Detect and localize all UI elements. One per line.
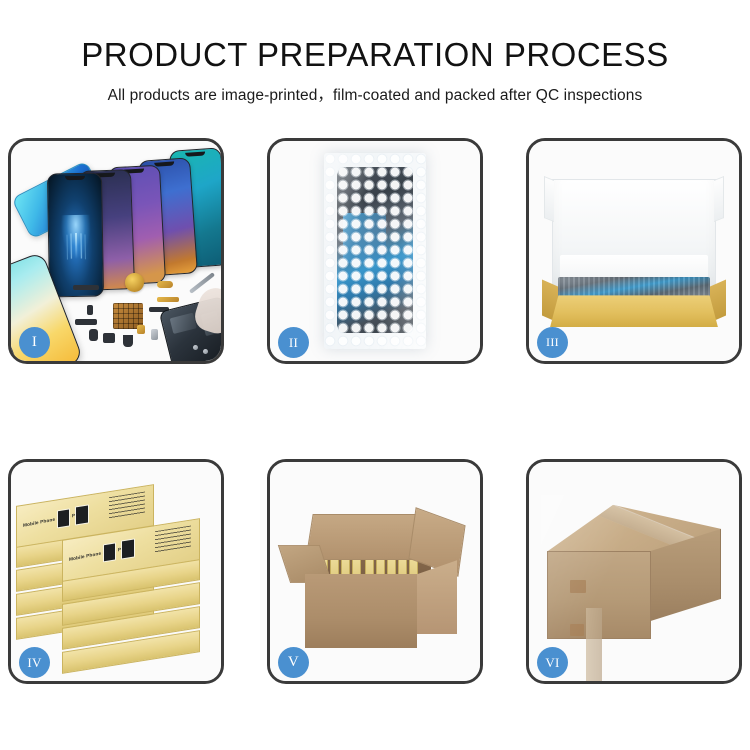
packing-tape-front: [586, 608, 602, 681]
product-preparation-infographic: PRODUCT PREPARATION PROCESS All products…: [0, 0, 750, 750]
box-window-1: [57, 508, 70, 528]
open-shipping-carton: [283, 496, 467, 664]
phone-lineup: [37, 147, 221, 287]
step-badge-2: II: [278, 327, 309, 358]
carton-flap-back: [305, 514, 424, 560]
box-window-2: [75, 504, 89, 525]
process-step-panel-6[interactable]: VI: [526, 459, 742, 684]
box-window-3: [103, 542, 116, 562]
header: PRODUCT PREPARATION PROCESS All products…: [0, 0, 750, 105]
carton-mark-bottom: [570, 624, 584, 636]
carton-front-face: [547, 551, 651, 639]
step-2-image: [270, 141, 480, 361]
carton-mark-top: [570, 580, 586, 593]
step-4-image: Mobile Phone Spare Parts Mobile Phone Sp…: [11, 462, 221, 681]
plastic-sheen: [324, 153, 426, 349]
box-spec-lines-1: [109, 491, 145, 519]
process-step-panel-4[interactable]: Mobile Phone Spare Parts Mobile Phone Sp…: [8, 459, 224, 684]
step-1-image: [11, 141, 221, 361]
inner-box-open: [542, 175, 726, 335]
process-step-panel-5[interactable]: V: [267, 459, 483, 684]
page-subtitle: All products are image-printed，film-coat…: [0, 83, 750, 105]
box-front-panel: [550, 295, 718, 327]
spare-parts-cluster: [73, 275, 221, 357]
stacked-retail-boxes: Mobile Phone Spare Parts Mobile Phone Sp…: [16, 481, 216, 671]
box-spec-lines-2: [155, 525, 191, 553]
step-badge-3: III: [537, 327, 568, 358]
step-6-image: [529, 462, 739, 681]
step-3-image: [529, 141, 739, 361]
process-step-panel-1[interactable]: I: [8, 138, 224, 364]
step-badge-5: V: [278, 647, 309, 678]
process-step-panel-3[interactable]: III: [526, 138, 742, 364]
step-badge-6: VI: [537, 647, 568, 678]
step-badge-4: IV: [19, 647, 50, 678]
speaker-part: [125, 273, 144, 292]
page-title: PRODUCT PREPARATION PROCESS: [0, 36, 750, 74]
sealed-shipping-carton: [541, 495, 727, 657]
carton-front-panel: [305, 574, 417, 648]
step-5-image: [270, 462, 480, 681]
box-window-4: [121, 538, 135, 559]
bubble-wrap-package: [324, 153, 426, 349]
step-badge-1: I: [19, 327, 50, 358]
process-step-panel-2[interactable]: II: [267, 138, 483, 364]
process-step-grid: I II: [8, 138, 742, 683]
